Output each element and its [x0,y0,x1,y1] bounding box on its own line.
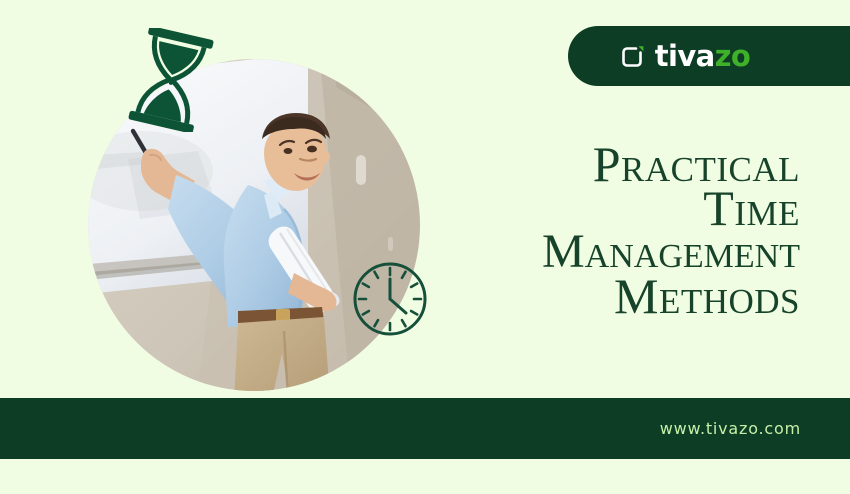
footer-website-url[interactable]: www.tivazo.com [660,419,801,438]
hourglass-icon [126,28,218,132]
page-title: Practical Time Management Methods [380,142,800,318]
logo-pill[interactable]: tivazo [568,26,850,86]
title-line-4: Methods [380,274,800,318]
tivazo-rounded-square-icon [620,43,646,69]
footer-bar: www.tivazo.com [0,398,850,459]
logo-lockup: tivazo [620,42,751,71]
title-line-2: Time [380,186,800,230]
logo-wordmark: tivazo [655,42,751,71]
footer-bottom-strip [0,459,850,494]
banner-canvas: tivazo [0,0,850,494]
logo-word-accent: zo [715,39,751,73]
logo-word-primary: tiva [655,39,715,73]
